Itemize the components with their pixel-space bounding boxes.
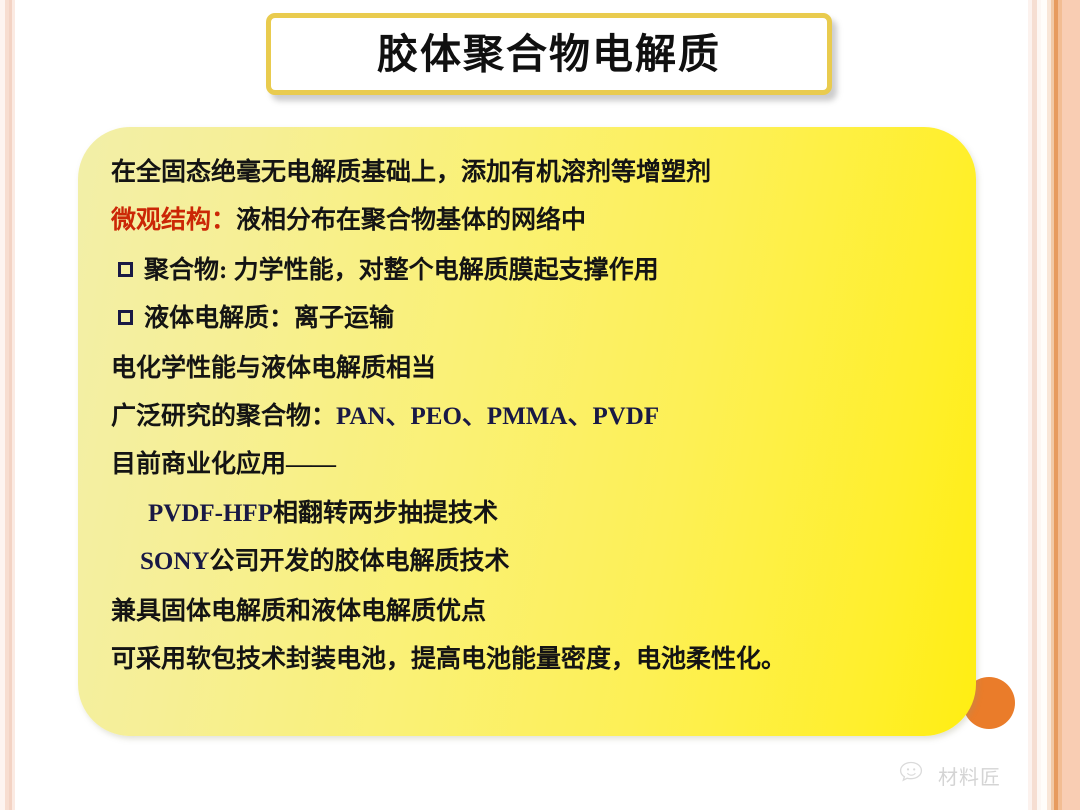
text-segment: PVDF-HFP (148, 500, 273, 527)
wechat-bubble-icon (899, 760, 933, 791)
text-segment: 微观结构： (111, 207, 236, 234)
body-line: 广泛研究的聚合物：PAN、PEO、PMMA、PVDF (111, 404, 659, 429)
text-segment: 电化学性能与液体电解质相当 (111, 355, 436, 382)
text-segment: 液相分布在聚合物基体的网络中 (236, 207, 586, 234)
text-segment: 兼具固体电解质和液体电解质优点 (111, 598, 486, 625)
text-segment: 在全固态绝毫无电解质基础上，添加有机溶剂等增塑剂 (111, 159, 711, 186)
body-line: 微观结构：液相分布在聚合物基体的网络中 (111, 208, 586, 233)
body-line: 液体电解质：离子运输 (118, 306, 394, 331)
watermark-label: 材料匠 (938, 761, 1001, 790)
watermark: 材料匠 (899, 757, 1027, 793)
square-bullet-icon (118, 262, 133, 277)
text-segment: 可采用软包技术封装电池，提高电池能量密度，电池柔性化。 (111, 646, 786, 673)
text-segment: 目前商业化应用—— (111, 451, 336, 478)
text-segment: PAN、PEO、PMMA、PVDF (336, 403, 659, 430)
right-edge-decoration (1028, 0, 1080, 810)
square-bullet-icon (118, 310, 133, 325)
text-segment: 公司开发的胶体电解质技术 (209, 548, 509, 575)
text-segment: 广泛研究的聚合物： (111, 403, 336, 430)
edge-stripe (12, 0, 15, 810)
body-line: SONY公司开发的胶体电解质技术 (140, 549, 509, 574)
body-line: 可采用软包技术封装电池，提高电池能量密度，电池柔性化。 (111, 647, 786, 672)
body-line: 兼具固体电解质和液体电解质优点 (111, 599, 486, 624)
left-edge-decoration (0, 0, 16, 810)
text-segment: 相翻转两步抽提技术 (273, 500, 498, 527)
text-segment: 聚合物: 力学性能，对整个电解质膜起支撑作用 (144, 257, 659, 284)
edge-stripe (1062, 0, 1080, 810)
body-line: 聚合物: 力学性能，对整个电解质膜起支撑作用 (118, 258, 659, 283)
body-line: 目前商业化应用—— (111, 452, 336, 477)
body-line: 电化学性能与液体电解质相当 (111, 356, 436, 381)
content-panel: 在全固态绝毫无电解质基础上，添加有机溶剂等增塑剂微观结构：液相分布在聚合物基体的… (78, 127, 976, 736)
text-segment: 液体电解质：离子运输 (144, 305, 394, 332)
page-title: 胶体聚合物电解质 (377, 34, 721, 75)
slide-canvas: 胶体聚合物电解质 在全固态绝毫无电解质基础上，添加有机溶剂等增塑剂微观结构：液相… (0, 0, 1080, 810)
text-segment: SONY (140, 548, 209, 575)
slide-title-box: 胶体聚合物电解质 (266, 13, 832, 95)
body-line: 在全固态绝毫无电解质基础上，添加有机溶剂等增塑剂 (111, 160, 711, 185)
body-line: PVDF-HFP相翻转两步抽提技术 (148, 501, 498, 526)
